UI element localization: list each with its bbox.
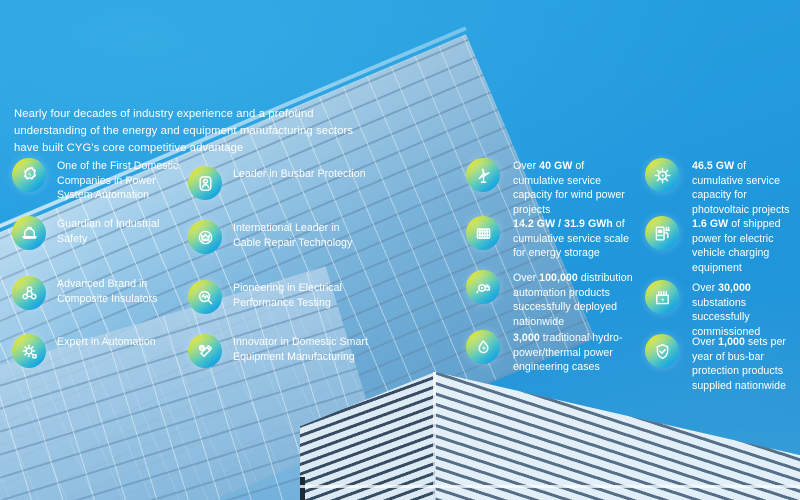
capability-label: Guardian of Industrial Safety	[57, 216, 192, 246]
cable-repair-crown-icon	[188, 220, 222, 254]
capability-label: Innovator in Domestic Smart Equipment Ma…	[233, 334, 368, 364]
electrical-test-magnifier-icon	[188, 280, 222, 314]
capability-item[interactable]: 3,000 traditional hydro-power/thermal po…	[466, 330, 638, 375]
hydro-power-drop-icon	[466, 330, 500, 364]
capability-label: One of the First Domestic Companies in P…	[57, 158, 192, 203]
capability-item[interactable]: Over 40 GW of cumulative service capacit…	[466, 158, 638, 217]
automation-gear-icon	[12, 334, 46, 368]
capability-item[interactable]: Pioneering in Electrical Performance Tes…	[188, 280, 368, 314]
capability-item[interactable]: 1.6 GW of shipped power for electric veh…	[645, 216, 800, 275]
capability-item[interactable]: 46.5 GW of cumulative service capacity f…	[645, 158, 800, 217]
capability-item[interactable]: Leader in Busbar Protection	[188, 166, 366, 200]
metric-value: 14.2 GW / 31.9 GWh	[513, 218, 613, 230]
capability-item[interactable]: Over 30,000 substations successfully com…	[645, 280, 800, 339]
capability-label: Over 100,000 distribution automation pro…	[513, 270, 638, 329]
metric-prefix: Over	[513, 272, 539, 284]
metric-prefix: Over	[692, 282, 718, 294]
capability-label: Advanced Brand in Composite Insulators	[57, 276, 192, 306]
capability-label: Pioneering in Electrical Performance Tes…	[233, 280, 368, 310]
metric-prefix: Over	[513, 160, 539, 172]
metric-value: 46.5 GW	[692, 160, 734, 172]
capability-label: 3,000 traditional hydro-power/thermal po…	[513, 330, 638, 375]
capability-label: 1.6 GW of shipped power for electric veh…	[692, 216, 800, 275]
capability-label: 46.5 GW of cumulative service capacity f…	[692, 158, 800, 217]
capability-item[interactable]: Over 100,000 distribution automation pro…	[466, 270, 638, 329]
composite-insulator-icon	[12, 276, 46, 310]
shield-check-icon	[645, 334, 679, 368]
capability-item[interactable]: 14.2 GW / 31.9 GWh of cumulative service…	[466, 216, 638, 261]
hard-hat-icon	[12, 216, 46, 250]
metric-value: 40 GW	[539, 160, 572, 172]
capability-label: International Leader in Cable Repair Tec…	[233, 220, 368, 250]
capability-item[interactable]: Innovator in Domestic Smart Equipment Ma…	[188, 334, 368, 368]
intro-paragraph: Nearly four decades of industry experien…	[14, 106, 374, 157]
metric-prefix: Over	[692, 336, 718, 348]
capability-item[interactable]: International Leader in Cable Repair Tec…	[188, 220, 368, 254]
wind-turbine-icon	[466, 158, 500, 192]
capability-item[interactable]: Guardian of Industrial Safety	[12, 216, 192, 250]
capability-item[interactable]: Advanced Brand in Composite Insulators	[12, 276, 192, 310]
metric-value: 1,000	[718, 336, 745, 348]
gear-lightning-icon	[12, 158, 46, 192]
metric-value: 3,000	[513, 332, 540, 344]
distribution-automation-icon	[466, 270, 500, 304]
capability-label: 14.2 GW / 31.9 GWh of cumulative service…	[513, 216, 638, 261]
ev-charger-icon	[645, 216, 679, 250]
capability-item[interactable]: Expert in Automation	[12, 334, 156, 368]
content-layer: Nearly four decades of industry experien…	[0, 0, 800, 500]
metric-value: 1.6 GW	[692, 218, 728, 230]
substation-icon	[645, 280, 679, 314]
metric-value: 100,000	[539, 272, 578, 284]
metric-value: 30,000	[718, 282, 751, 294]
metric-suffix: substations successfully commissioned	[692, 297, 760, 338]
capability-label: Over 30,000 substations successfully com…	[692, 280, 800, 339]
capability-item[interactable]: One of the First Domestic Companies in P…	[12, 158, 192, 203]
capability-label: Expert in Automation	[57, 334, 156, 350]
solar-sun-icon	[645, 158, 679, 192]
smart-equipment-icon	[188, 334, 222, 368]
energy-storage-icon	[466, 216, 500, 250]
capability-label: Leader in Busbar Protection	[233, 166, 366, 182]
capability-item[interactable]: Over 1,000 sets per year of bus-bar prot…	[645, 334, 800, 393]
capability-label: Over 40 GW of cumulative service capacit…	[513, 158, 638, 217]
busbar-protection-icon	[188, 166, 222, 200]
capability-label: Over 1,000 sets per year of bus-bar prot…	[692, 334, 800, 393]
